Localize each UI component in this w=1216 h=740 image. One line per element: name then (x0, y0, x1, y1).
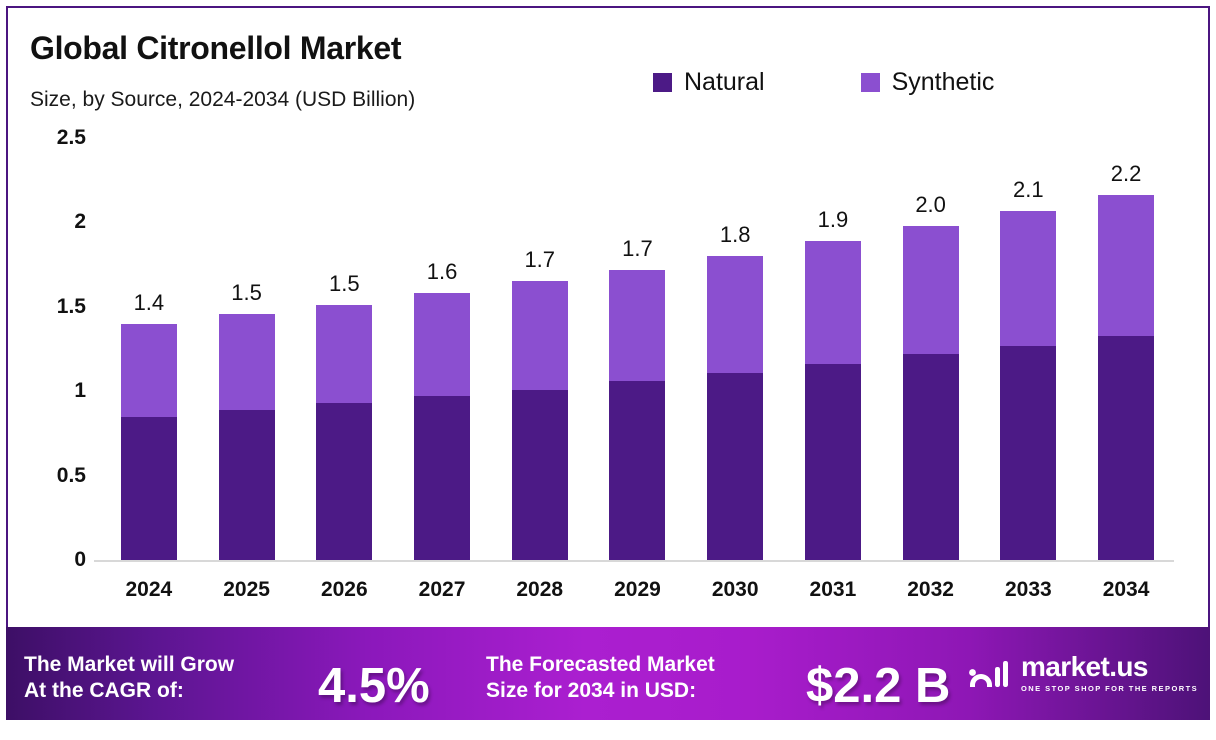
x-axis-baseline (94, 560, 1174, 562)
cagr-caption: The Market will Grow At the CAGR of: (24, 652, 234, 705)
forecast-value: $2.2 B (806, 658, 950, 714)
bar-segment-natural[interactable] (1000, 346, 1056, 560)
bar-group[interactable]: 1.8 (707, 138, 763, 560)
y-axis-tick: 2.5 (57, 126, 86, 150)
bar-group[interactable]: 1.7 (609, 138, 665, 560)
x-axis-tick: 2024 (121, 578, 177, 602)
y-axis-tick: 1.5 (57, 295, 86, 319)
bar-total-label: 1.9 (818, 207, 849, 233)
cagr-caption-line1: The Market will Grow (24, 652, 234, 678)
cagr-value: 4.5% (318, 658, 430, 714)
x-axis-tick: 2029 (609, 578, 665, 602)
cagr-caption-line2: At the CAGR of: (24, 678, 234, 704)
bar-segment-synthetic[interactable] (1098, 195, 1154, 335)
bar-group[interactable]: 1.4 (121, 138, 177, 560)
x-axis-tick: 2032 (903, 578, 959, 602)
forecast-caption-line1: The Forecasted Market (486, 652, 715, 678)
bar-segment-synthetic[interactable] (219, 314, 275, 410)
bar-segment-synthetic[interactable] (609, 270, 665, 381)
bar-segment-synthetic[interactable] (707, 256, 763, 372)
x-axis-tick: 2028 (512, 578, 568, 602)
bar-segment-natural[interactable] (512, 390, 568, 560)
bar-segment-natural[interactable] (903, 354, 959, 560)
x-axis-tick: 2027 (414, 578, 470, 602)
bar-group[interactable]: 1.5 (316, 138, 372, 560)
y-axis-tick: 1 (74, 379, 86, 403)
x-axis-tick: 2030 (707, 578, 763, 602)
bar-segment-natural[interactable] (219, 410, 275, 560)
bar-segment-synthetic[interactable] (512, 281, 568, 389)
bar-segment-natural[interactable] (414, 396, 470, 560)
y-axis-tick: 2 (74, 210, 86, 234)
logo-wordmark: market.us (1021, 653, 1198, 681)
bar-segment-synthetic[interactable] (903, 226, 959, 354)
bar-group[interactable]: 1.7 (512, 138, 568, 560)
y-axis-tick: 0 (74, 548, 86, 572)
bar-total-label: 2.1 (1013, 177, 1044, 203)
bar-group[interactable]: 1.6 (414, 138, 470, 560)
bar-segment-natural[interactable] (609, 381, 665, 560)
bar-segment-synthetic[interactable] (316, 305, 372, 403)
bar-total-label: 1.5 (231, 280, 262, 306)
x-axis-tick: 2031 (805, 578, 861, 602)
x-axis-tick: 2025 (219, 578, 275, 602)
bar-segment-natural[interactable] (316, 403, 372, 560)
bar-segment-synthetic[interactable] (1000, 211, 1056, 346)
bar-segment-synthetic[interactable] (805, 241, 861, 364)
logo-text: market.us ONE STOP SHOP FOR THE REPORTS (1021, 653, 1198, 693)
bar-series-container: 1.41.51.51.61.71.71.81.92.02.12.2 (100, 138, 1175, 560)
bar-group[interactable]: 2.2 (1098, 138, 1154, 560)
forecast-caption-line2: Size for 2034 in USD: (486, 678, 715, 704)
bar-group[interactable]: 2.0 (903, 138, 959, 560)
market-us-logo-icon (966, 658, 1012, 688)
bar-total-label: 1.4 (134, 290, 165, 316)
bar-segment-natural[interactable] (121, 417, 177, 560)
bar-total-label: 2.2 (1111, 161, 1142, 187)
bar-segment-natural[interactable] (805, 364, 861, 560)
bar-total-label: 1.5 (329, 271, 360, 297)
bar-group[interactable]: 1.5 (219, 138, 275, 560)
x-axis: 2024202520262027202820292030203120322033… (100, 570, 1175, 610)
bar-total-label: 1.7 (524, 247, 555, 273)
logo-tagline: ONE STOP SHOP FOR THE REPORTS (1021, 684, 1198, 693)
bar-total-label: 1.8 (720, 222, 751, 248)
brand-logo[interactable]: market.us ONE STOP SHOP FOR THE REPORTS (966, 653, 1198, 693)
bar-segment-synthetic[interactable] (414, 293, 470, 396)
bar-group[interactable]: 1.9 (805, 138, 861, 560)
x-axis-tick: 2026 (316, 578, 372, 602)
bar-segment-synthetic[interactable] (121, 324, 177, 417)
bar-group[interactable]: 2.1 (1000, 138, 1056, 560)
bar-total-label: 1.7 (622, 236, 653, 262)
chart-card: Global Citronellol Market Size, by Sourc… (6, 6, 1210, 718)
chart-plot-area: 00.511.522.5 1.41.51.51.61.71.71.81.92.0… (8, 8, 1212, 720)
forecast-caption: The Forecasted Market Size for 2034 in U… (486, 652, 715, 705)
bar-segment-natural[interactable] (1098, 336, 1154, 561)
y-axis: 00.511.522.5 (8, 8, 100, 568)
y-axis-tick: 0.5 (57, 464, 86, 488)
bar-total-label: 2.0 (915, 192, 946, 218)
bar-total-label: 1.6 (427, 259, 458, 285)
x-axis-tick: 2033 (1000, 578, 1056, 602)
bar-segment-natural[interactable] (707, 373, 763, 560)
x-axis-tick: 2034 (1098, 578, 1154, 602)
